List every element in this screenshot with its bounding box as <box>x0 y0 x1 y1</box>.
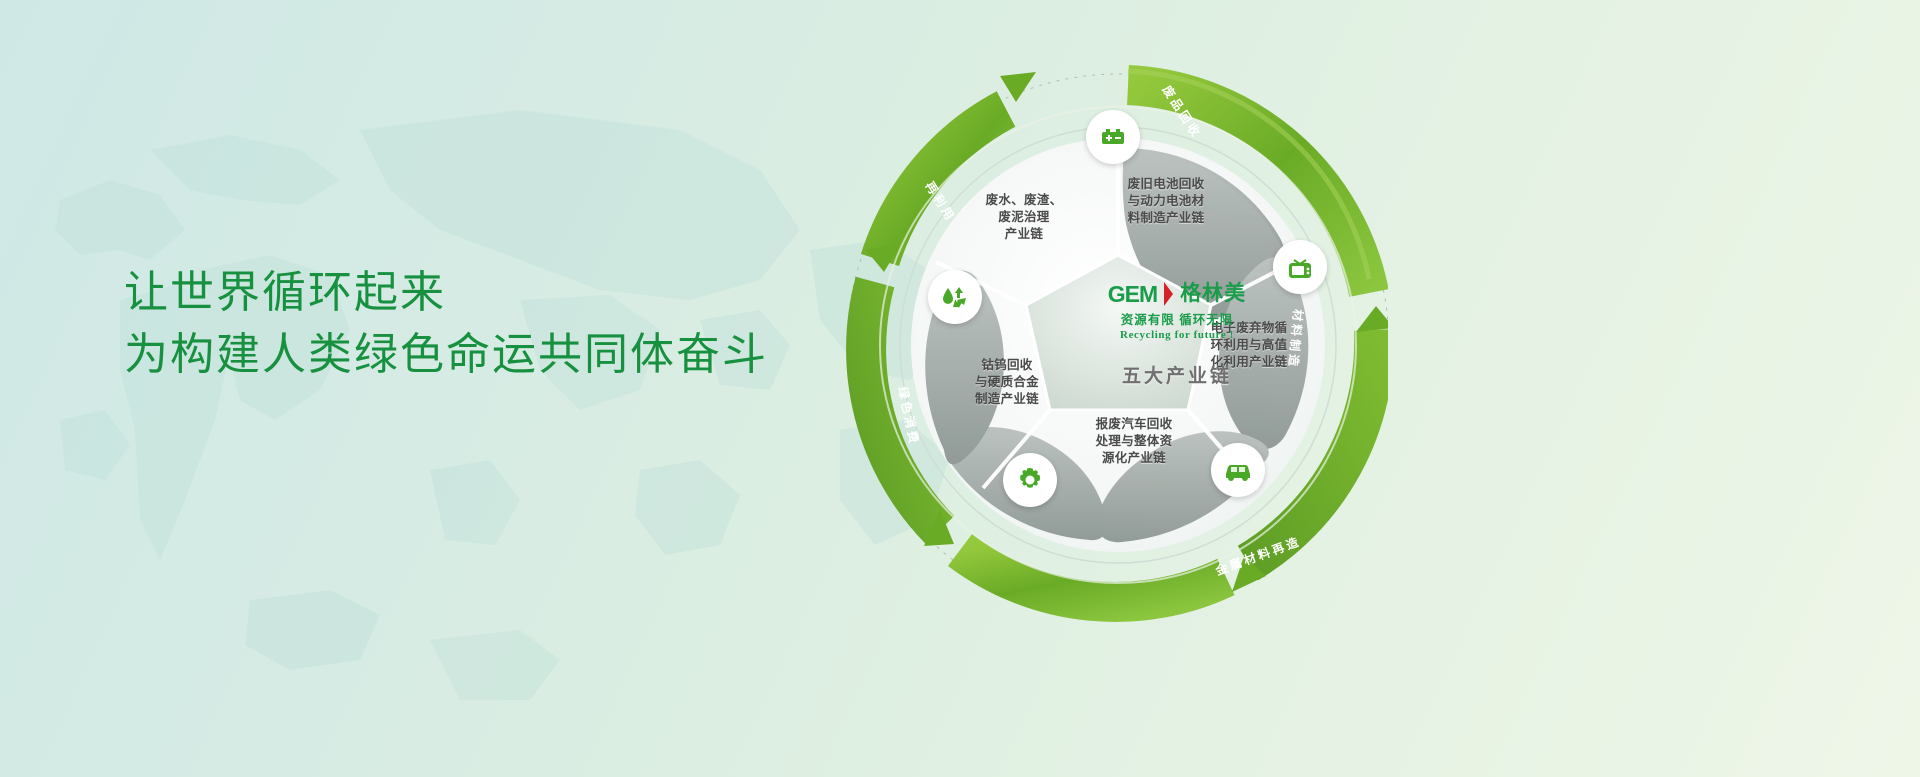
logo-brand-row: GEM 格林美 <box>1082 282 1272 306</box>
gear-icon <box>1003 453 1057 507</box>
tv-icon <box>1273 240 1327 294</box>
segment-label-waste: 废水、废渣、 废泥治理 产业链 <box>964 192 1084 243</box>
hero-banner: 让世界循环起来 为构建人类绿色命运共同体奋斗 <box>0 0 1920 777</box>
segment-label-auto: 报废汽车回收 处理与整体资 源化产业链 <box>1073 416 1195 467</box>
logo-subtitle: 五大产业链 <box>1082 361 1272 388</box>
segment-label-cobalt: 钴钨回收 与硬质合金 制造产业链 <box>948 357 1066 408</box>
headline-line-2: 为构建人类绿色命运共同体奋斗 <box>124 324 768 386</box>
logo-brand-en: GEM <box>1108 282 1157 306</box>
logo-triangle-mark <box>1164 282 1173 306</box>
car-icon <box>1211 443 1265 497</box>
logo-slogan-cn: 资源有限 循环无限 <box>1082 309 1272 328</box>
headline-line-1: 让世界循环起来 <box>124 262 768 324</box>
segment-label-battery: 废旧电池回收 与动力电池材 料制造产业链 <box>1106 176 1226 227</box>
battery-icon <box>1086 110 1140 164</box>
center-logo: GEM 格林美 资源有限 循环无限 Recycling for future !… <box>1082 282 1272 388</box>
logo-slogan-en: Recycling for future ! <box>1082 329 1272 341</box>
logo-brand-cn: 格林美 <box>1180 282 1246 306</box>
headline: 让世界循环起来 为构建人类绿色命运共同体奋斗 <box>124 262 768 386</box>
recycle-water-icon <box>928 270 982 324</box>
circular-economy-diagram: 废旧电池回收 与动力电池材 料制造产业链 电子废弃物循 环利用与高值 化利用产业… <box>828 10 1388 770</box>
